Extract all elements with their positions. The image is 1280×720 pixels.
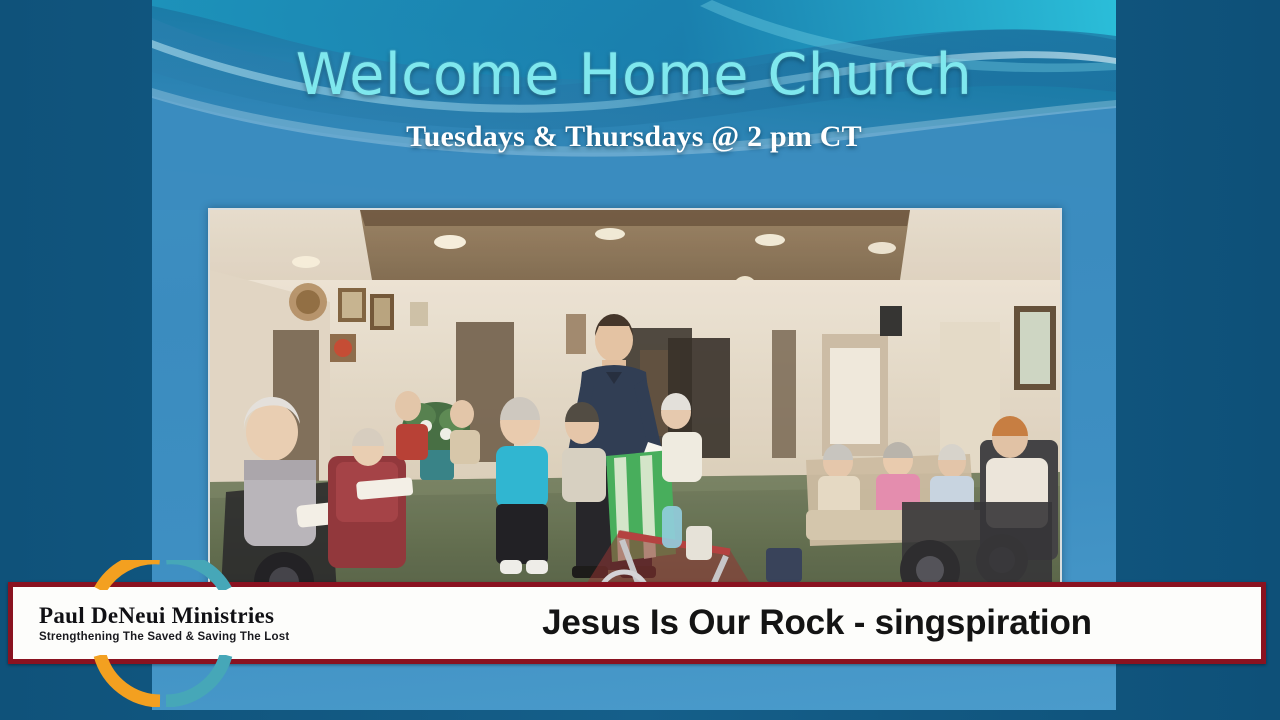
photo-frame bbox=[208, 208, 1062, 612]
title-block: Welcome Home Church Tuesdays & Thursdays… bbox=[152, 46, 1116, 154]
ministry-emblem-bottom-icon bbox=[88, 655, 238, 707]
page-title: Welcome Home Church bbox=[152, 46, 1116, 106]
program-caption: Jesus Is Our Rock - singspiration bbox=[403, 603, 1261, 643]
ministry-tagline: Strengthening The Saved & Saving The Los… bbox=[39, 631, 403, 643]
video-player-frame: Welcome Home Church Tuesdays & Thursdays… bbox=[0, 0, 1280, 720]
slide-subtitle: Tuesdays & Thursdays @ 2 pm CT bbox=[152, 120, 1116, 154]
ministry-logo: Paul DeNeui Ministries Strengthening The… bbox=[13, 587, 403, 659]
photo-illustration bbox=[210, 210, 1060, 610]
care-home-gathering-photo bbox=[210, 210, 1060, 610]
ministry-name: Paul DeNeui Ministries bbox=[39, 603, 403, 629]
ministry-emblem-top-icon bbox=[88, 560, 238, 590]
lower-third-banner: Paul DeNeui Ministries Strengthening The… bbox=[8, 582, 1266, 664]
